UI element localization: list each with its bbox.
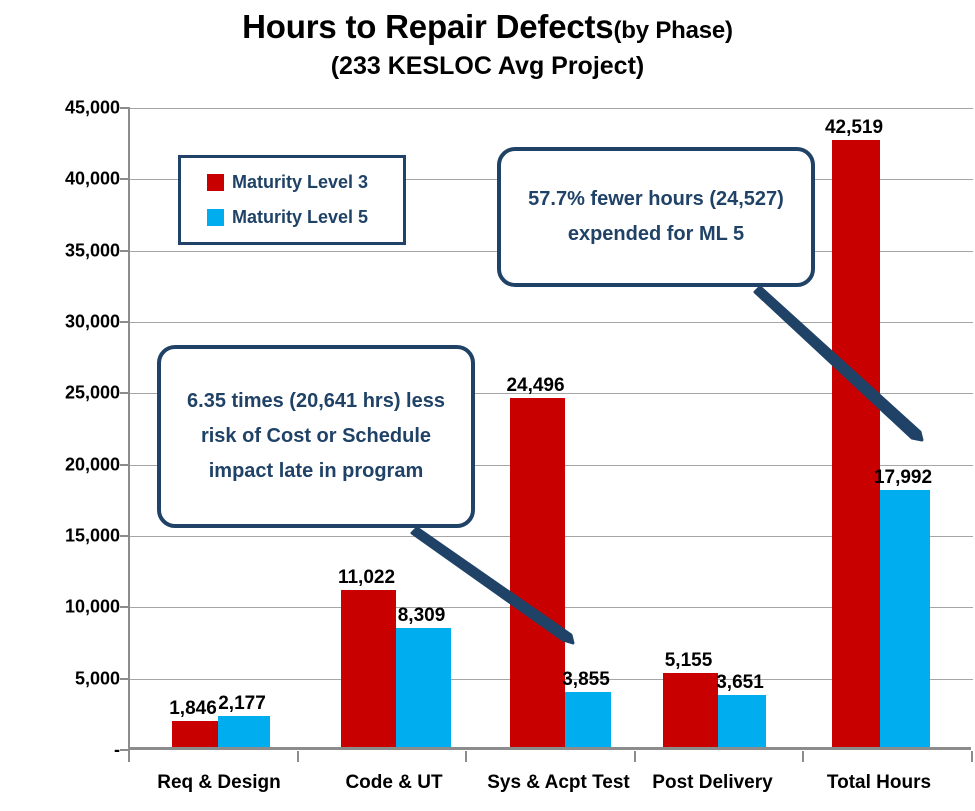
chart-title: Hours to Repair Defects(by Phase) (0, 8, 975, 46)
chart-title-main: Hours to Repair Defects (242, 8, 613, 45)
callout-bottom-text: 6.35 times (20,641 hrs) lessrisk of Cost… (187, 384, 445, 489)
bar-value-label-ml3-3: 5,155 (665, 650, 713, 672)
x-axis-labels: Req & DesignCode & UTSys & Acpt TestPost… (128, 772, 971, 802)
bar-value-label-ml5-3: 3,651 (716, 672, 764, 694)
bar-ml5-0 (218, 716, 270, 747)
callout-top-text: 57.7% fewer hours (24,527)expended for M… (528, 182, 784, 252)
bar-ml3-4 (832, 140, 880, 747)
x-axis-category-label: Post Delivery (652, 772, 772, 794)
chart-title-suffix: (by Phase) (613, 17, 732, 44)
chart-canvas: Hours to Repair Defects(by Phase) (233 K… (0, 0, 975, 811)
legend-swatch-ml5-icon (207, 209, 224, 226)
legend-item-ml3: Maturity Level 3 (207, 172, 403, 193)
gridline (130, 108, 973, 109)
callout-ml5-savings: 57.7% fewer hours (24,527)expended for M… (497, 147, 815, 287)
bar-value-label-ml5-0: 2,177 (218, 693, 266, 715)
bar-ml5-2 (565, 692, 611, 747)
bar-value-label-ml3-1: 11,022 (338, 567, 395, 589)
x-axis-category-label: Sys & Acpt Test (487, 772, 630, 794)
x-axis-tickmark (802, 751, 804, 762)
legend-swatch-ml3-icon (207, 174, 224, 191)
x-axis-tickmark (297, 751, 299, 762)
bar-ml5-1 (396, 628, 451, 747)
bar-ml3-0 (172, 721, 218, 747)
callout-line: risk of Cost or Schedule (187, 419, 445, 454)
callout-line: impact late in program (187, 454, 445, 489)
callout-line: expended for ML 5 (528, 217, 784, 252)
x-axis-category-label: Req & Design (157, 772, 281, 794)
x-axis-tickmark (465, 751, 467, 762)
chart-title-block: Hours to Repair Defects(by Phase) (233 K… (0, 8, 975, 81)
chart-legend: Maturity Level 3 Maturity Level 5 (178, 155, 406, 245)
x-axis-tickmark (971, 751, 973, 762)
callout-line: 6.35 times (20,641 hrs) less (187, 384, 445, 419)
bar-value-label-ml5-2: 3,855 (562, 669, 610, 691)
bar-value-label-ml3-2: 24,496 (506, 375, 564, 397)
x-axis-category-label: Total Hours (827, 772, 931, 794)
chart-subtitle: (233 KESLOC Avg Project) (0, 52, 975, 81)
bar-ml3-3 (663, 673, 718, 747)
x-axis-tickmark (128, 751, 130, 762)
x-axis-category-label: Code & UT (345, 772, 442, 794)
legend-label-ml3: Maturity Level 3 (232, 172, 368, 193)
bar-value-label-ml3-0: 1,846 (169, 698, 217, 720)
bar-ml3-2 (510, 398, 565, 747)
y-axis-tickmarks (0, 108, 135, 750)
callout-risk-reduction: 6.35 times (20,641 hrs) lessrisk of Cost… (157, 345, 475, 528)
legend-item-ml5: Maturity Level 5 (207, 207, 403, 228)
bar-ml3-1 (341, 590, 396, 747)
legend-label-ml5: Maturity Level 5 (232, 207, 368, 228)
bar-value-label-ml3-4: 42,519 (825, 117, 883, 139)
callout-line: 57.7% fewer hours (24,527) (528, 182, 784, 217)
bar-ml5-3 (718, 695, 766, 747)
bar-ml5-4 (880, 490, 930, 747)
bar-value-label-ml5-4: 17,992 (874, 467, 932, 489)
bar-value-label-ml5-1: 8,309 (398, 605, 446, 627)
x-axis-tickmark (634, 751, 636, 762)
